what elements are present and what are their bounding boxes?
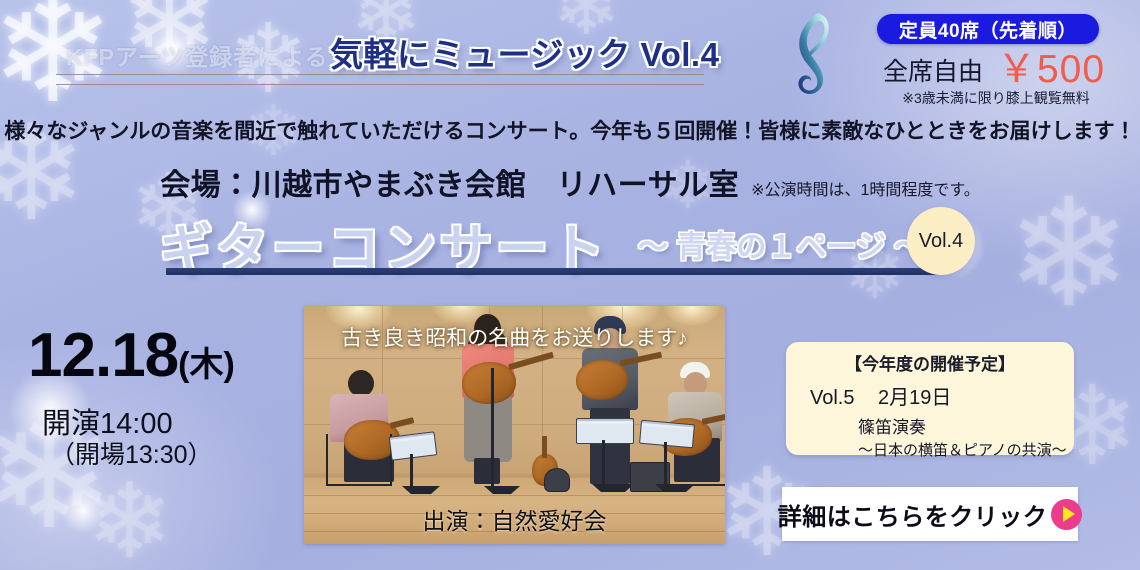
music-stand-pole <box>602 440 605 486</box>
title-subtitle: ～ 青春の１ページ ～ <box>638 222 924 266</box>
music-stand-base <box>655 484 695 492</box>
speaker-icon <box>544 468 570 492</box>
capacity-badge: 定員40席（先着順） <box>877 14 1099 44</box>
lead-paragraph: 様々なジャンルの音楽を間近で触れていただけるコンサート。今年も５回開催！皆様に素… <box>0 115 1140 145</box>
mic-pole <box>491 368 494 488</box>
title-underline <box>166 268 941 275</box>
price-note: ※3歳未満に限り膝上観覧無料 <box>880 88 1112 108</box>
event-date-number: 12.18 <box>28 325 178 387</box>
schedule-volume: Vol.5 <box>810 387 854 409</box>
details-link-label: 詳細はこちらをクリック <box>778 497 1048 532</box>
microphone-stand <box>480 368 506 494</box>
performance-photo: 古き良き昭和の名曲をお送りします♪ 出演：自然愛好会 <box>304 306 725 544</box>
music-stand <box>640 422 692 492</box>
music-stand-desk <box>389 431 438 460</box>
details-link-button[interactable]: 詳細はこちらをクリック <box>782 487 1078 541</box>
schedule-row: Vol.5 2月19日 <box>786 381 1074 410</box>
music-stand <box>390 434 434 494</box>
volume-badge: Vol.4 <box>907 207 975 275</box>
price-row: 全席自由 ￥500 <box>880 50 1108 89</box>
header-rule-bottom <box>56 84 704 85</box>
header-rule-top <box>56 74 704 75</box>
schedule-act-detail: ～日本の横笛＆ピアノの共演～ <box>786 439 1074 460</box>
schedule-date: 2月19日 <box>878 387 951 409</box>
event-date: 12.18 (木) <box>28 325 235 387</box>
upcoming-schedule-box: 【今年度の開催予定】 Vol.5 2月19日 篠笛演奏 ～日本の横笛＆ピアノの共… <box>786 342 1074 455</box>
venue-note: ※公演時間は、1時間程度です。 <box>751 176 980 200</box>
mic-base <box>484 486 520 494</box>
series-title: 気軽にミュージック Vol.4 <box>330 28 719 76</box>
music-stand-desk <box>576 418 634 444</box>
music-stand-base <box>592 484 634 492</box>
play-triangle-icon <box>1051 499 1082 530</box>
music-stand-pole <box>664 442 667 486</box>
floor-plank-line <box>304 495 725 496</box>
concert-poster: ❄ ❄ ❄ ❄ ❄ ❄ ❄ ❄ ❄ ❄ ❄ ❄ ❄ ❄ ❄ KFPアーツ登録者に… <box>0 0 1140 570</box>
music-stand-desk <box>639 420 695 449</box>
event-date-day-of-week: (木) <box>178 348 235 382</box>
ticket-price: ￥500 <box>997 50 1105 89</box>
venue-line: 会場：川越市やまぶき会館 リハーサル室 ※公演時間は、1時間程度です。 <box>0 160 1140 204</box>
chair-icon <box>326 434 392 486</box>
music-stand <box>576 418 632 492</box>
music-stand-base <box>402 486 440 494</box>
doors-time: （開場13:30） <box>50 435 213 471</box>
seating-type-label: 全席自由 <box>883 52 983 88</box>
photo-caption-bottom: 出演：自然愛好会 <box>304 502 725 536</box>
schedule-title: 【今年度の開催予定】 <box>786 350 1074 375</box>
organizer-text: KFPアーツ登録者による <box>66 38 328 72</box>
guitar-neck-icon <box>542 436 547 458</box>
venue-name: 会場：川越市やまぶき会館 リハーサル室 <box>160 160 739 204</box>
music-stand-pole <box>410 454 413 490</box>
snowflake-icon: ❄ <box>86 470 173 570</box>
sparkle-icon <box>60 488 106 534</box>
musician-head <box>348 370 374 397</box>
treble-clef-icon <box>770 8 848 100</box>
schedule-act: 篠笛演奏 <box>786 413 1074 438</box>
photo-caption-top: 古き良き昭和の名曲をお送りします♪ <box>304 322 725 352</box>
